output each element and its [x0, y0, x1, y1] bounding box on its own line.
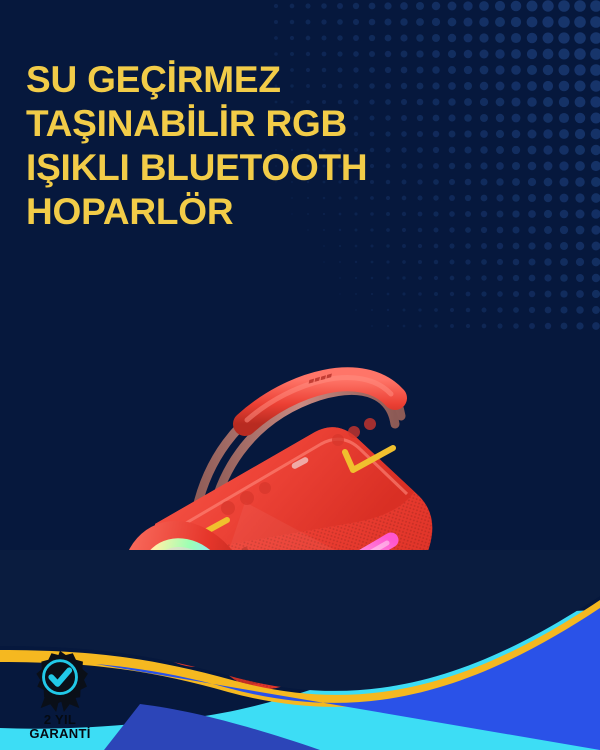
- page-title: SU GEÇİRMEZ TAŞINABİLİR RGB IŞIKLI BLUET…: [26, 58, 466, 234]
- status-badge: 2 YIL GARANTİ: [8, 650, 112, 742]
- badge-line-1: 2 YIL: [8, 713, 112, 727]
- verified-seal-check-icon: [29, 650, 91, 712]
- poster-canvas: SU GEÇİRMEZ TAŞINABİLİR RGB IŞIKLI BLUET…: [0, 0, 600, 750]
- badge-line-2: GARANTİ: [8, 727, 112, 741]
